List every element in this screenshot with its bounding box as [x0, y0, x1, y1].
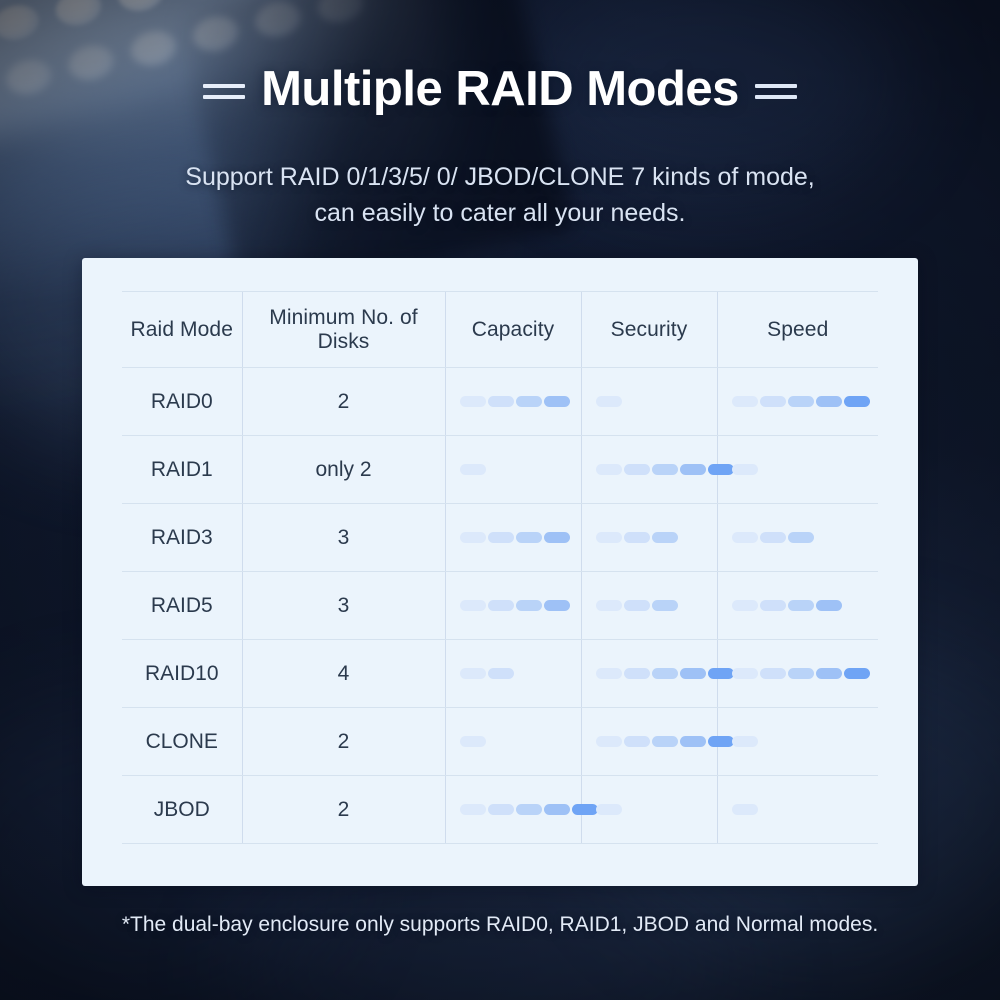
rating-meter-segment: [680, 464, 706, 475]
rating-meter: [446, 708, 581, 775]
double-dash-icon: [755, 80, 797, 99]
rating-meter-segment: [788, 396, 814, 407]
cell-security-meter: [581, 572, 717, 640]
rating-meter-segment: [624, 464, 650, 475]
rating-meter-segment: [460, 532, 486, 543]
rating-meter-segment: [732, 396, 758, 407]
rating-meter-segment: [624, 668, 650, 679]
rating-meter: [582, 368, 717, 435]
cell-security-meter: [581, 368, 717, 436]
rating-meter-segment: [708, 668, 734, 679]
rating-meter: [582, 640, 717, 707]
rating-meter-segment: [544, 532, 570, 543]
rating-meter: [446, 776, 581, 843]
double-dash-icon: [203, 80, 245, 99]
rating-meter-segment: [596, 804, 622, 815]
cell-raid-mode: RAID3: [122, 504, 242, 572]
rating-meter: [582, 572, 717, 639]
rating-meter-segment: [488, 396, 514, 407]
rating-meter-segment: [596, 532, 622, 543]
column-header-capacity: Capacity: [445, 292, 581, 368]
rating-meter-segment: [460, 396, 486, 407]
rating-meter-segment: [624, 532, 650, 543]
rating-meter-segment: [596, 736, 622, 747]
rating-meter-segment: [732, 532, 758, 543]
rating-meter: [446, 504, 581, 571]
rating-meter-segment: [760, 668, 786, 679]
cell-capacity-meter: [445, 708, 581, 776]
rating-meter-segment: [652, 464, 678, 475]
cell-speed-meter: [717, 436, 878, 504]
rating-meter-segment: [732, 804, 758, 815]
column-header-security: Security: [581, 292, 717, 368]
rating-meter-segment: [596, 396, 622, 407]
rating-meter-segment: [788, 600, 814, 611]
column-header-raid-mode: Raid Mode: [122, 292, 242, 368]
subtitle: Support RAID 0/1/3/5/ 0/ JBOD/CLONE 7 ki…: [0, 160, 1000, 231]
rating-meter-segment: [544, 600, 570, 611]
rating-meter-segment: [760, 532, 786, 543]
cell-min-disks: only 2: [242, 436, 445, 504]
rating-meter-segment: [844, 396, 870, 407]
rating-meter-segment: [624, 600, 650, 611]
rating-meter-segment: [816, 668, 842, 679]
raid-comparison-table: Raid Mode Minimum No. of Disks Capacity …: [122, 291, 878, 844]
cell-raid-mode: RAID10: [122, 640, 242, 708]
rating-meter-segment: [516, 600, 542, 611]
rating-meter-segment: [788, 532, 814, 543]
rating-meter: [718, 368, 879, 435]
table-row: CLONE2: [122, 708, 878, 776]
cell-security-meter: [581, 776, 717, 844]
column-header-min-disks: Minimum No. of Disks: [242, 292, 445, 368]
rating-meter-segment: [816, 600, 842, 611]
cell-speed-meter: [717, 708, 878, 776]
rating-meter-segment: [760, 396, 786, 407]
rating-meter-segment: [460, 668, 486, 679]
rating-meter-segment: [760, 600, 786, 611]
rating-meter-segment: [460, 600, 486, 611]
page-title: Multiple RAID Modes: [261, 64, 739, 116]
rating-meter: [446, 368, 581, 435]
raid-table-panel: Raid Mode Minimum No. of Disks Capacity …: [82, 258, 918, 886]
table-row: RAID104: [122, 640, 878, 708]
rating-meter-segment: [732, 668, 758, 679]
cell-raid-mode: CLONE: [122, 708, 242, 776]
rating-meter-segment: [652, 736, 678, 747]
cell-speed-meter: [717, 640, 878, 708]
rating-meter: [446, 436, 581, 503]
rating-meter-segment: [680, 736, 706, 747]
rating-meter-segment: [596, 600, 622, 611]
table-row: JBOD2: [122, 776, 878, 844]
rating-meter-segment: [788, 668, 814, 679]
cell-security-meter: [581, 504, 717, 572]
rating-meter-segment: [488, 804, 514, 815]
cell-capacity-meter: [445, 504, 581, 572]
cell-speed-meter: [717, 368, 878, 436]
rating-meter: [718, 708, 879, 775]
table-header-row: Raid Mode Minimum No. of Disks Capacity …: [122, 292, 878, 368]
cell-capacity-meter: [445, 368, 581, 436]
rating-meter: [582, 436, 717, 503]
rating-meter-segment: [732, 600, 758, 611]
rating-meter-segment: [516, 396, 542, 407]
column-header-speed: Speed: [717, 292, 878, 368]
rating-meter-segment: [624, 736, 650, 747]
cell-raid-mode: RAID5: [122, 572, 242, 640]
rating-meter-segment: [844, 668, 870, 679]
rating-meter-segment: [596, 464, 622, 475]
rating-meter-segment: [544, 804, 570, 815]
rating-meter-segment: [816, 396, 842, 407]
table-row: RAID1only 2: [122, 436, 878, 504]
rating-meter-segment: [652, 600, 678, 611]
cell-capacity-meter: [445, 640, 581, 708]
rating-meter: [446, 640, 581, 707]
table-body: RAID02RAID1only 2RAID33RAID53RAID104CLON…: [122, 368, 878, 844]
rating-meter-segment: [488, 668, 514, 679]
subtitle-line-2: can easily to cater all your needs.: [0, 196, 1000, 232]
cell-security-meter: [581, 436, 717, 504]
rating-meter-segment: [516, 804, 542, 815]
rating-meter-segment: [596, 668, 622, 679]
rating-meter: [718, 776, 879, 843]
rating-meter-segment: [680, 668, 706, 679]
rating-meter-segment: [544, 396, 570, 407]
cell-speed-meter: [717, 504, 878, 572]
rating-meter: [582, 504, 717, 571]
cell-speed-meter: [717, 572, 878, 640]
rating-meter: [718, 504, 879, 571]
cell-capacity-meter: [445, 776, 581, 844]
rating-meter-segment: [572, 804, 598, 815]
rating-meter-segment: [488, 532, 514, 543]
rating-meter-segment: [488, 600, 514, 611]
rating-meter-segment: [460, 736, 486, 747]
table-row: RAID02: [122, 368, 878, 436]
rating-meter-segment: [708, 464, 734, 475]
rating-meter-segment: [652, 532, 678, 543]
cell-min-disks: 2: [242, 776, 445, 844]
table-header: Raid Mode Minimum No. of Disks Capacity …: [122, 292, 878, 368]
cell-security-meter: [581, 640, 717, 708]
cell-min-disks: 4: [242, 640, 445, 708]
rating-meter-segment: [516, 532, 542, 543]
rating-meter-segment: [708, 736, 734, 747]
rating-meter-segment: [732, 464, 758, 475]
cell-raid-mode: JBOD: [122, 776, 242, 844]
rating-meter: [718, 640, 879, 707]
cell-security-meter: [581, 708, 717, 776]
cell-speed-meter: [717, 776, 878, 844]
rating-meter: [718, 572, 879, 639]
cell-raid-mode: RAID0: [122, 368, 242, 436]
cell-capacity-meter: [445, 436, 581, 504]
rating-meter: [582, 708, 717, 775]
cell-min-disks: 3: [242, 572, 445, 640]
table-row: RAID33: [122, 504, 878, 572]
rating-meter-segment: [652, 668, 678, 679]
subtitle-line-1: Support RAID 0/1/3/5/ 0/ JBOD/CLONE 7 ki…: [0, 160, 1000, 196]
cell-raid-mode: RAID1: [122, 436, 242, 504]
cell-min-disks: 2: [242, 708, 445, 776]
cell-capacity-meter: [445, 572, 581, 640]
rating-meter-segment: [460, 464, 486, 475]
cell-min-disks: 2: [242, 368, 445, 436]
rating-meter-segment: [460, 804, 486, 815]
footnote: *The dual-bay enclosure only supports RA…: [0, 913, 1000, 937]
rating-meter: [718, 436, 879, 503]
cell-min-disks: 3: [242, 504, 445, 572]
table-row: RAID53: [122, 572, 878, 640]
rating-meter: [446, 572, 581, 639]
page-content: Multiple RAID Modes Support RAID 0/1/3/5…: [0, 0, 1000, 1000]
rating-meter-segment: [732, 736, 758, 747]
title-row: Multiple RAID Modes: [0, 64, 1000, 116]
rating-meter: [582, 776, 717, 843]
